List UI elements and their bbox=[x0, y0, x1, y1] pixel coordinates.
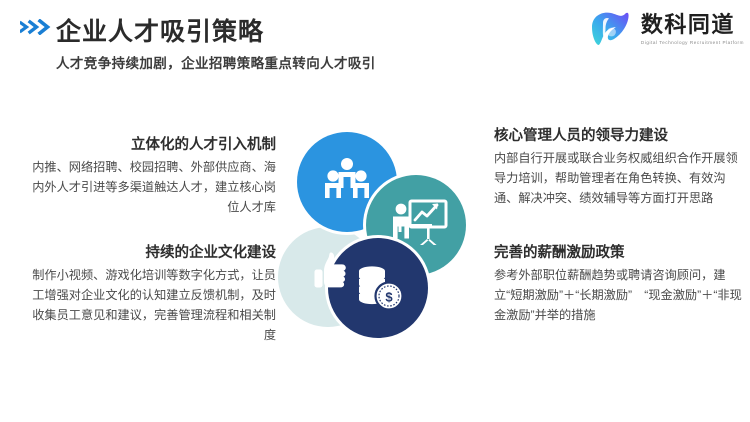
text-block-talent-intake: 立体化的人才引入机制 内推、网络招聘、校园招聘、外部供应商、海内外人才引进等多渠… bbox=[30, 135, 276, 218]
venn-diagram: $ bbox=[276, 120, 476, 340]
block-body: 参考外部职位薪酬趋势或聘请咨询顾问，建立“短期激励”＋“长期激励” “现金激励”… bbox=[494, 266, 742, 325]
brand-logo: 数科同道 Digital Technology Recruitment Plat… bbox=[586, 7, 744, 51]
svg-text:$: $ bbox=[385, 289, 393, 304]
block-body: 内部自行开展或联合业务权威组织合作开展领导力培训，帮助管理者在角色转换、有效沟通… bbox=[494, 149, 742, 208]
logo-mark-icon bbox=[586, 7, 634, 51]
page-title: 企业人才吸引策略 bbox=[56, 12, 264, 48]
logo-tagline: Digital Technology Recruitment Platform bbox=[641, 40, 744, 45]
block-title: 持续的企业文化建设 bbox=[24, 243, 276, 263]
block-title: 完善的薪酬激励政策 bbox=[494, 243, 742, 263]
page-subtitle: 人才竞争持续加剧，企业招聘策略重点转向人才吸引 bbox=[56, 52, 376, 72]
logo-name: 数科同道 bbox=[641, 13, 735, 36]
block-title: 立体化的人才引入机制 bbox=[30, 135, 276, 155]
text-block-culture-building: 持续的企业文化建设 制作小视频、游戏化培训等数字化方式，让员工增强对企业文化的认… bbox=[24, 243, 276, 345]
triple-chevron-right-icon bbox=[20, 19, 52, 35]
block-body: 制作小视频、游戏化培训等数字化方式，让员工增强对企业文化的认知建立反馈机制，及时… bbox=[24, 266, 276, 345]
block-title: 核心管理人员的领导力建设 bbox=[494, 126, 742, 146]
text-block-compensation: 完善的薪酬激励政策 参考外部职位薪酬趋势或聘请咨询顾问，建立“短期激励”＋“长期… bbox=[494, 243, 742, 326]
block-body: 内推、网络招聘、校园招聘、外部供应商、海内外人才引进等多渠道触达人才，建立核心岗… bbox=[30, 158, 276, 217]
slide-header: 企业人才吸引策略 人才竞争持续加剧，企业招聘策略重点转向人才吸引 数科同道 Di… bbox=[0, 0, 750, 88]
text-block-leadership: 核心管理人员的领导力建设 内部自行开展或联合业务权威组织合作开展领导力培训，帮助… bbox=[494, 126, 742, 209]
